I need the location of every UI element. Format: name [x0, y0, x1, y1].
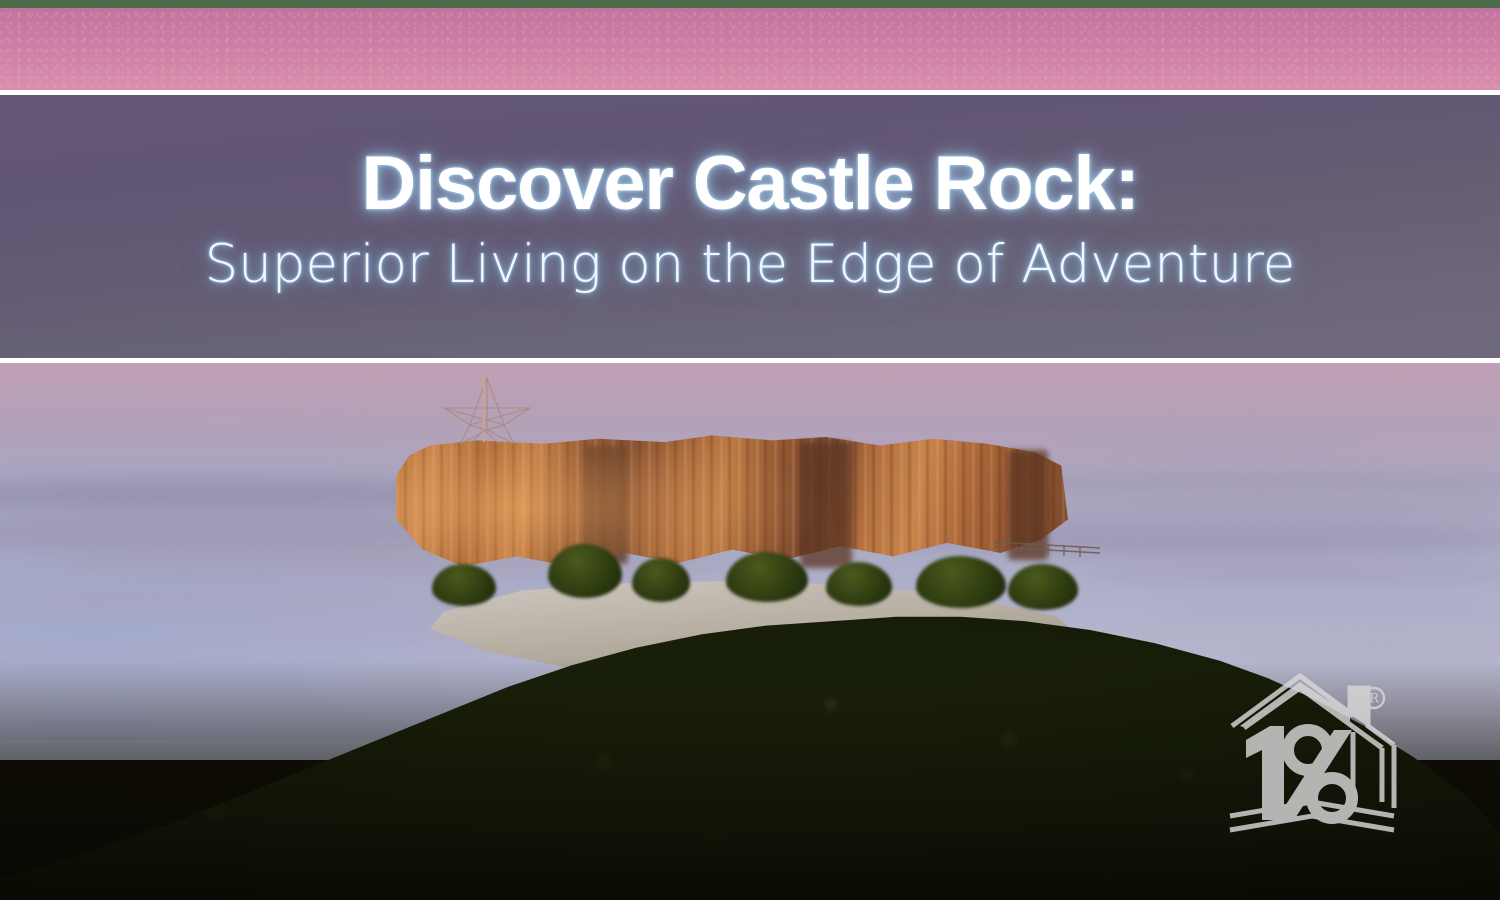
scrub-bush — [432, 564, 496, 606]
banner-band-grain — [0, 8, 1500, 90]
cloud-band — [1080, 560, 1500, 586]
cloud-band — [1060, 430, 1360, 446]
scrub-bush — [916, 556, 1006, 608]
castle-rock-butte — [396, 432, 1068, 600]
headline-block: Discover Castle Rock: Superior Living on… — [0, 87, 1500, 350]
percent-upper-ring — [1288, 730, 1328, 770]
overlook-railing-icon — [992, 536, 1102, 558]
top-accent-strip — [0, 0, 1500, 8]
brand-logo[interactable]: R — [1222, 668, 1404, 840]
page-subtitle: Superior Living on the Edge of Adventure — [205, 238, 1296, 291]
scrub-bush — [826, 562, 892, 606]
house-logo-icon: R — [1222, 668, 1404, 840]
svg-text:R: R — [1369, 692, 1380, 707]
star-tower-icon — [437, 372, 537, 444]
scrub-bush — [632, 558, 690, 602]
cloud-band — [1150, 600, 1500, 622]
divider-rule-bottom — [0, 358, 1500, 363]
scrub-bush — [1008, 564, 1078, 610]
page-title: Discover Castle Rock: — [361, 146, 1138, 222]
hero-banner-page: Discover Castle Rock: Superior Living on… — [0, 0, 1500, 900]
percent-lower-ring — [1312, 778, 1352, 818]
star-tower — [437, 372, 537, 444]
scrub-bush — [726, 552, 808, 602]
